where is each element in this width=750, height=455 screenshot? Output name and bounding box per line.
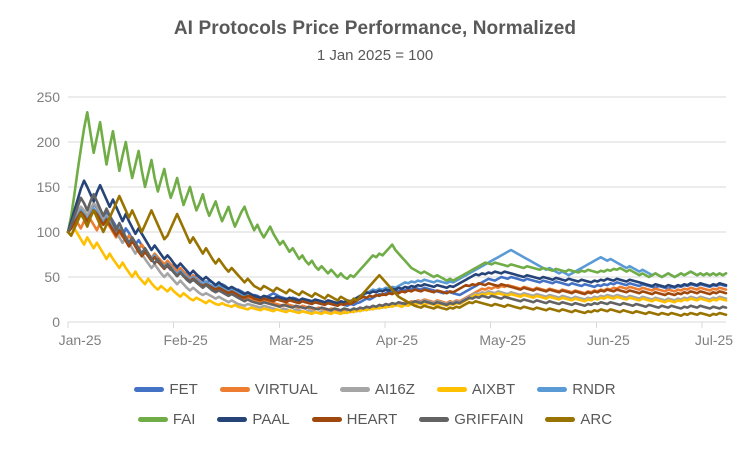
y-tick-label: 0 <box>18 314 60 330</box>
legend-swatch-icon <box>312 417 342 422</box>
legend-label: ARC <box>580 411 612 428</box>
legend-label: AI16Z <box>375 381 415 398</box>
y-tick-label: 100 <box>18 224 60 240</box>
y-tick-label: 250 <box>18 89 60 105</box>
legend-swatch-icon <box>217 417 247 422</box>
x-tick-label: Jan-25 <box>59 332 102 348</box>
y-tick-label: 50 <box>18 269 60 285</box>
legend-swatch-icon <box>138 417 168 422</box>
legend-item-paal[interactable]: PAAL <box>217 411 289 428</box>
x-axis: Jan-25Feb-25Mar-25Apr-25May-25Jun-25Jul-… <box>0 332 750 356</box>
x-tick-label: May-25 <box>479 332 526 348</box>
legend-item-ai16z[interactable]: AI16Z <box>340 381 415 398</box>
x-tick-label: Jun-25 <box>587 332 630 348</box>
legend-swatch-icon <box>537 387 567 392</box>
legend-row: FETVIRTUALAI16ZAIXBTRNDR <box>0 374 750 404</box>
legend-label: FAI <box>173 411 196 428</box>
legend-swatch-icon <box>419 417 449 422</box>
legend-swatch-icon <box>340 387 370 392</box>
legend-swatch-icon <box>437 387 467 392</box>
legend-item-griffain[interactable]: GRIFFAIN <box>419 411 523 428</box>
chart-legend: FETVIRTUALAI16ZAIXBTRNDRFAIPAALHEARTGRIF… <box>0 374 750 434</box>
legend-label: GRIFFAIN <box>454 411 523 428</box>
legend-item-heart[interactable]: HEART <box>312 411 398 428</box>
legend-label: RNDR <box>572 381 615 398</box>
legend-item-virtual[interactable]: VIRTUAL <box>220 381 318 398</box>
x-tick-label: Feb-25 <box>163 332 207 348</box>
legend-label: HEART <box>347 411 398 428</box>
legend-item-fai[interactable]: FAI <box>138 411 196 428</box>
legend-swatch-icon <box>545 417 575 422</box>
x-tick-label: Jul-25 <box>695 332 733 348</box>
chart-container: AI Protocols Price Performance, Normaliz… <box>0 0 750 450</box>
x-tick-label: Mar-25 <box>269 332 313 348</box>
legend-item-aixbt[interactable]: AIXBT <box>437 381 515 398</box>
legend-label: VIRTUAL <box>255 381 318 398</box>
y-tick-label: 200 <box>18 134 60 150</box>
y-tick-label: 150 <box>18 179 60 195</box>
legend-swatch-icon <box>220 387 250 392</box>
x-tick-label: Apr-25 <box>376 332 418 348</box>
legend-item-rndr[interactable]: RNDR <box>537 381 615 398</box>
legend-row: FAIPAALHEARTGRIFFAINARC <box>0 404 750 434</box>
legend-item-fet[interactable]: FET <box>134 381 197 398</box>
legend-item-arc[interactable]: ARC <box>545 411 612 428</box>
legend-label: FET <box>169 381 197 398</box>
legend-swatch-icon <box>134 387 164 392</box>
legend-label: AIXBT <box>472 381 515 398</box>
legend-label: PAAL <box>252 411 289 428</box>
